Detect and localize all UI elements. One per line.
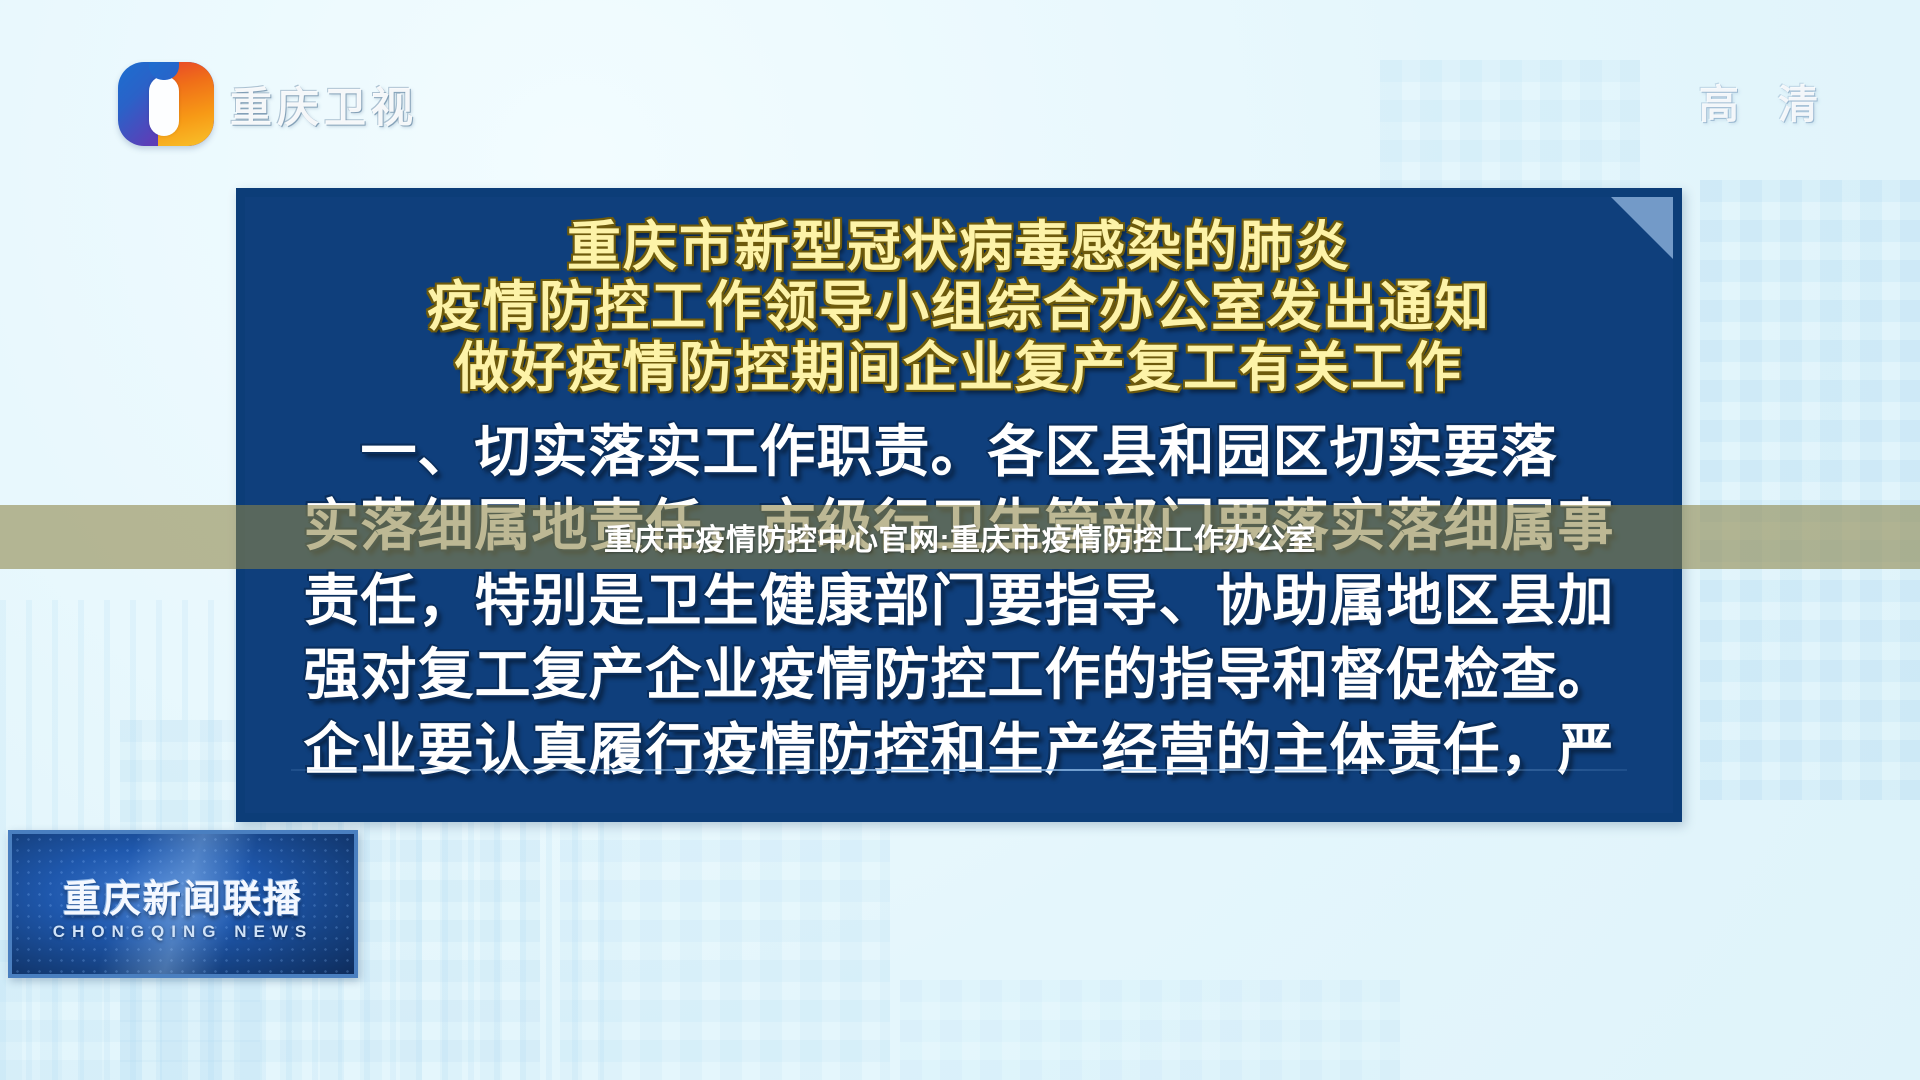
slate-headline: 重庆市新型冠状病毒感染的肺炎 疫情防控工作领导小组综合办公室发出通知 做好疫情防… <box>245 217 1673 398</box>
body-line-1: 一、切实落实工作职责。各区县和园区切实要落 <box>275 415 1643 489</box>
background-grid-pattern <box>900 980 1400 1080</box>
channel-name: 重庆卫视 <box>230 74 418 135</box>
program-name-en: CHONGQING NEWS <box>12 922 354 942</box>
headline-line-1: 重庆市新型冠状病毒感染的肺炎 <box>245 217 1673 277</box>
background-grid-pattern <box>1380 60 1640 200</box>
headline-line-3: 做好疫情防控期间企业复产复工有关工作 <box>245 338 1673 398</box>
body-line-5: 企业要认真履行疫情防控和生产经营的主体责任，严 <box>275 713 1643 787</box>
program-name-cn: 重庆新闻联播 <box>12 868 354 923</box>
body-line-3: 责任，特别是卫生健康部门要指导、协助属地区县加 <box>275 564 1643 638</box>
channel-bug: 重庆卫视 <box>118 62 418 146</box>
lower-third-program-logo: 重庆新闻联播 CHONGQING NEWS <box>8 830 358 978</box>
panel-underline-divider <box>291 769 1627 771</box>
logo-white-slot <box>149 76 179 136</box>
watermark-band: 重庆市疫情防控中心官网:重庆市疫情防控工作办公室 <box>0 505 1920 569</box>
watermark-text: 重庆市疫情防控中心官网:重庆市疫情防控工作办公室 <box>604 515 1316 559</box>
background-grid-pattern <box>1700 180 1920 800</box>
hd-badge: 高 清 <box>1699 72 1832 130</box>
chongqing-tv-logo-icon <box>118 62 214 146</box>
headline-line-2: 疫情防控工作领导小组综合办公室发出通知 <box>245 277 1673 337</box>
lower-third-inner: 重庆新闻联播 CHONGQING NEWS <box>12 834 354 974</box>
broadcast-screen: 重庆卫视 高 清 重庆市新型冠状病毒感染的肺炎 疫情防控工作领导小组综合办公室发… <box>0 0 1920 1080</box>
slate-body-text: 一、切实落实工作职责。各区县和园区切实要落 实落细属地责任，市级行卫生管部门要落… <box>275 415 1643 787</box>
body-line-4: 强对复工复产企业疫情防控工作的指导和督促检查。 <box>275 638 1643 712</box>
